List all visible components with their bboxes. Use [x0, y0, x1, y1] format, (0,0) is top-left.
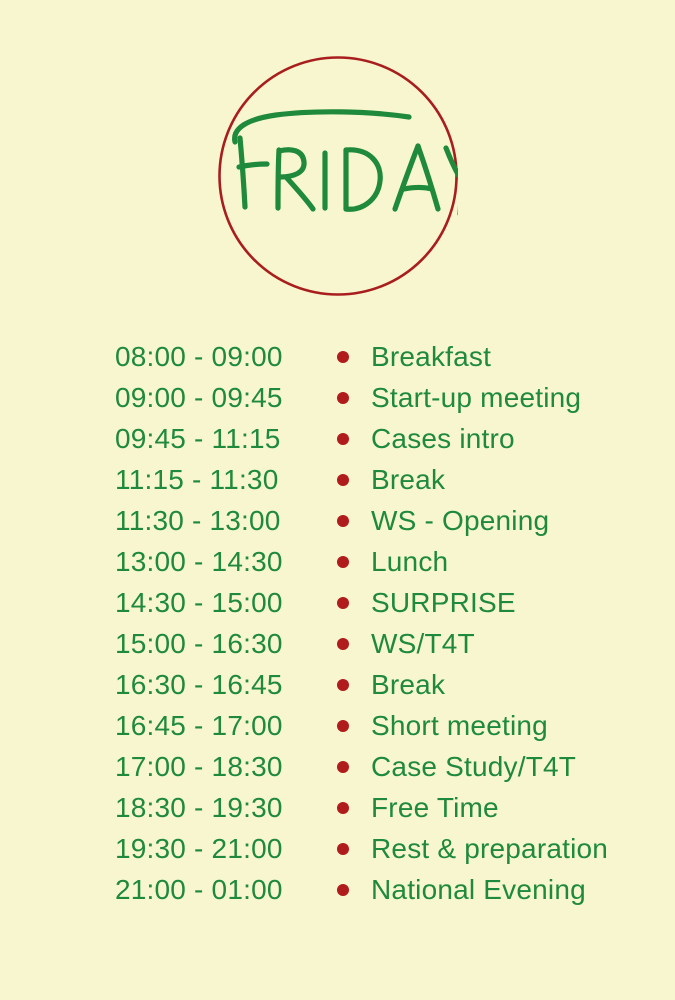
schedule-row-label: Lunch	[371, 548, 448, 576]
schedule-row-bullet-cell	[315, 761, 371, 773]
bullet-dot-icon	[337, 884, 349, 896]
friday-handwritten-text	[235, 112, 458, 214]
schedule-row-label: Break	[371, 671, 445, 699]
schedule-row-bullet-cell	[315, 351, 371, 363]
schedule-row-time: 16:45 - 17:00	[115, 712, 315, 740]
bullet-dot-icon	[337, 638, 349, 650]
bullet-dot-icon	[337, 802, 349, 814]
schedule-row-bullet-cell	[315, 720, 371, 732]
bullet-dot-icon	[337, 556, 349, 568]
schedule-row: 17:00 - 18:30Case Study/T4T	[0, 746, 675, 787]
schedule-row: 11:15 - 11:30Break	[0, 459, 675, 500]
schedule-row-label: Start-up meeting	[371, 384, 581, 412]
schedule-row-label: SURPRISE	[371, 589, 516, 617]
bullet-dot-icon	[337, 474, 349, 486]
schedule-row-time: 21:00 - 01:00	[115, 876, 315, 904]
schedule-row: 11:30 - 13:00WS - Opening	[0, 500, 675, 541]
schedule-row: 09:45 - 11:15Cases intro	[0, 418, 675, 459]
schedule-row-time: 09:00 - 09:45	[115, 384, 315, 412]
bullet-dot-icon	[337, 392, 349, 404]
schedule-row-bullet-cell	[315, 679, 371, 691]
bullet-dot-icon	[337, 515, 349, 527]
schedule-row: 18:30 - 19:30Free Time	[0, 787, 675, 828]
schedule-row: 08:00 - 09:00Breakfast	[0, 336, 675, 377]
schedule-row-time: 15:00 - 16:30	[115, 630, 315, 658]
schedule-row-label: Short meeting	[371, 712, 548, 740]
schedule-row: 13:00 - 14:30Lunch	[0, 541, 675, 582]
schedule-list: 08:00 - 09:00Breakfast09:00 - 09:45Start…	[0, 336, 675, 910]
bullet-dot-icon	[337, 351, 349, 363]
schedule-row-time: 18:30 - 19:30	[115, 794, 315, 822]
bullet-dot-icon	[337, 597, 349, 609]
schedule-row-label: WS/T4T	[371, 630, 475, 658]
schedule-row-label: Case Study/T4T	[371, 753, 576, 781]
schedule-row: 19:30 - 21:00Rest & preparation	[0, 828, 675, 869]
schedule-row-time: 11:30 - 13:00	[115, 507, 315, 535]
schedule-row-bullet-cell	[315, 515, 371, 527]
schedule-row-label: Break	[371, 466, 445, 494]
day-logo-badge	[218, 56, 458, 296]
schedule-row-time: 17:00 - 18:30	[115, 753, 315, 781]
schedule-row-time: 09:45 - 11:15	[115, 425, 315, 453]
schedule-row-time: 11:15 - 11:30	[115, 466, 315, 494]
schedule-row-label: Free Time	[371, 794, 499, 822]
bullet-dot-icon	[337, 720, 349, 732]
schedule-row: 09:00 - 09:45Start-up meeting	[0, 377, 675, 418]
schedule-row-time: 08:00 - 09:00	[115, 343, 315, 371]
schedule-row-label: Cases intro	[371, 425, 515, 453]
schedule-row: 14:30 - 15:00SURPRISE	[0, 582, 675, 623]
schedule-row: 16:30 - 16:45Break	[0, 664, 675, 705]
bullet-dot-icon	[337, 761, 349, 773]
schedule-row: 16:45 - 17:00Short meeting	[0, 705, 675, 746]
schedule-row-bullet-cell	[315, 802, 371, 814]
schedule-row-bullet-cell	[315, 392, 371, 404]
schedule-row: 15:00 - 16:30WS/T4T	[0, 623, 675, 664]
schedule-row-bullet-cell	[315, 556, 371, 568]
schedule-row-label: WS - Opening	[371, 507, 549, 535]
schedule-row-bullet-cell	[315, 433, 371, 445]
schedule-row-time: 19:30 - 21:00	[115, 835, 315, 863]
schedule-row-time: 14:30 - 15:00	[115, 589, 315, 617]
schedule-row-label: National Evening	[371, 876, 586, 904]
schedule-row-time: 13:00 - 14:30	[115, 548, 315, 576]
schedule-row: 21:00 - 01:00National Evening	[0, 869, 675, 910]
schedule-row-bullet-cell	[315, 638, 371, 650]
bullet-dot-icon	[337, 843, 349, 855]
schedule-row-bullet-cell	[315, 474, 371, 486]
bullet-dot-icon	[337, 679, 349, 691]
schedule-row-label: Rest & preparation	[371, 835, 608, 863]
schedule-row-bullet-cell	[315, 597, 371, 609]
schedule-row-time: 16:30 - 16:45	[115, 671, 315, 699]
bullet-dot-icon	[337, 433, 349, 445]
schedule-row-label: Breakfast	[371, 343, 491, 371]
schedule-row-bullet-cell	[315, 884, 371, 896]
logo-circle-outline	[220, 58, 457, 295]
schedule-row-bullet-cell	[315, 843, 371, 855]
